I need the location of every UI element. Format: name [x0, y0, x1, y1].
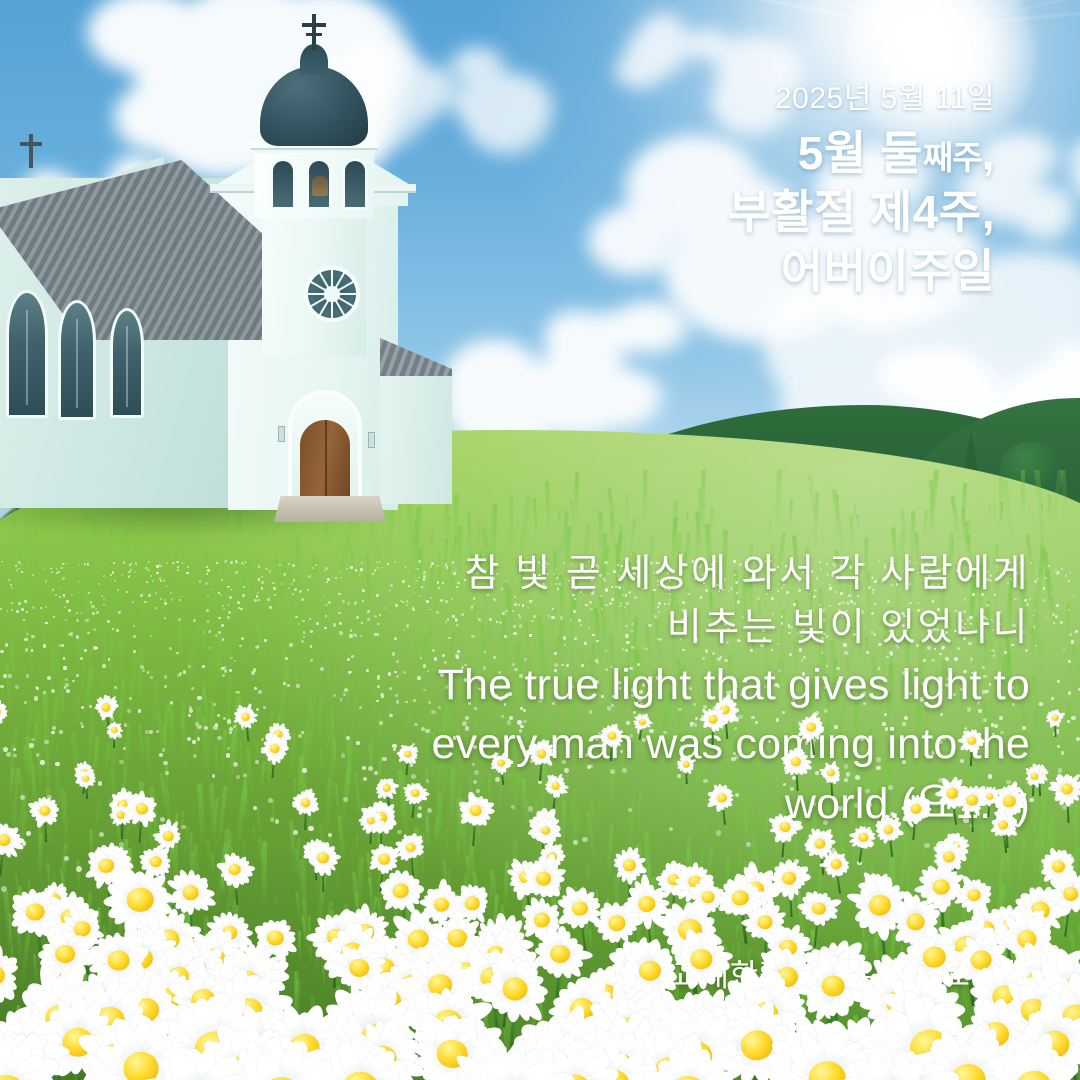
title-line-1-shrink: 째주 [923, 140, 982, 177]
daisy-flower [232, 703, 260, 731]
church-door [300, 420, 350, 508]
daisy-center [228, 863, 241, 875]
header-block: 2025년 5월 11일 5월 둘째주, 부활절 제4주, 어버이주일 [728, 84, 995, 301]
service-date: 2025년 5월 11일 [728, 84, 995, 114]
daisy-flower [258, 732, 292, 766]
daisy-flower [455, 791, 495, 831]
sunday-bulletin-card: 2025년 5월 11일 5월 둘째주, 부활절 제4주, 어버이주일 참 빛 … [0, 0, 1080, 1080]
daisy-flower [105, 721, 124, 740]
daisy-flower [396, 742, 419, 765]
daisy-flower [818, 761, 843, 786]
daisy-center [497, 759, 505, 767]
daisy-flower [290, 788, 320, 818]
daisy-flower [676, 754, 697, 775]
daisy-flower [1045, 708, 1065, 728]
daisy-flower [91, 693, 121, 723]
daisy-flower [0, 819, 25, 861]
daisy-flower [598, 722, 625, 749]
daisy-flower [305, 840, 341, 876]
daisy-center [182, 885, 199, 901]
daisy-flower [898, 791, 933, 826]
belfry-arch-opening [270, 158, 296, 210]
daisy-center [690, 949, 712, 970]
gothic-window [6, 290, 48, 418]
daisy-flower [215, 850, 255, 890]
daisy-flower [0, 698, 10, 725]
daisy-center [535, 871, 551, 886]
daisy-center [1060, 783, 1073, 795]
daisy-flower [489, 750, 514, 775]
daisy-flower [74, 768, 96, 790]
daisy-flower [957, 727, 985, 755]
daisy-flower [108, 801, 134, 827]
entrance-steps [274, 496, 386, 522]
gothic-window [110, 308, 144, 418]
daisy-flower [136, 1040, 255, 1080]
daisy-center [607, 732, 616, 741]
daisy-flower [987, 810, 1019, 842]
steeple-cross-icon [312, 14, 316, 50]
daisy-flower [526, 738, 557, 769]
verse-korean-line-2: 비추는 빛이 있었나니 [330, 602, 1030, 656]
daisy-center [269, 743, 280, 754]
daisy-flower [400, 779, 429, 808]
verse-english-line-1: The true light that gives light to [330, 656, 1030, 715]
daisy-flower [796, 711, 828, 743]
side-annex-wall [380, 376, 452, 504]
daisy-flower [359, 809, 383, 833]
belfry-arch-opening [342, 158, 368, 210]
daisy-flower [28, 793, 62, 827]
title-line-1-tail: , [982, 127, 995, 179]
daisy-center [782, 871, 797, 885]
daisy-flower [780, 746, 812, 778]
daisy-center [405, 842, 416, 853]
daisy-flower [1048, 770, 1080, 807]
daisy-center [81, 775, 89, 782]
rose-window [304, 266, 360, 322]
bell-icon [312, 176, 328, 196]
daisy-center [779, 821, 791, 832]
daisy-center [382, 783, 391, 792]
daisy-flower [632, 712, 653, 733]
daisy-flower [0, 1032, 67, 1080]
daisy-flower [705, 782, 737, 814]
daisy-center [117, 810, 126, 818]
title-line-1: 5월 둘째주, [728, 124, 995, 183]
verse-korean-line-1: 참 빛 곧 세상에 와서 각 사람에게 [330, 548, 1030, 602]
church-building [0, 8, 502, 508]
daisy-center [822, 976, 845, 998]
wall-lamp [278, 426, 285, 442]
daisy-center [377, 853, 390, 865]
daisy-flower [700, 706, 727, 733]
daisy-center [536, 749, 547, 759]
scripture-verse-block: 참 빛 곧 세상에 와서 각 사람에게 비추는 빛이 있었나니 The true… [330, 548, 1030, 834]
daisy-flower [634, 1037, 743, 1080]
daisy-center [810, 901, 825, 915]
daisy-flower [848, 822, 878, 852]
title-line-1-main: 5월 둘 [798, 127, 923, 179]
daisy-center [162, 831, 173, 842]
title-line-2: 부활절 제4주, [728, 183, 995, 242]
daisy-flower [768, 810, 802, 844]
gothic-window [58, 300, 96, 420]
daisy-center [966, 794, 978, 805]
onion-dome [260, 66, 368, 146]
daisy-flower [954, 782, 989, 817]
daisy-flower [542, 772, 570, 800]
title-line-3: 어버이주일 [728, 242, 995, 301]
wall-lamp [368, 432, 375, 448]
daisy-flower [982, 1035, 1080, 1080]
daisy-center [910, 803, 922, 814]
daisy-flower [839, 1044, 945, 1080]
gable-cross-icon [29, 134, 33, 168]
